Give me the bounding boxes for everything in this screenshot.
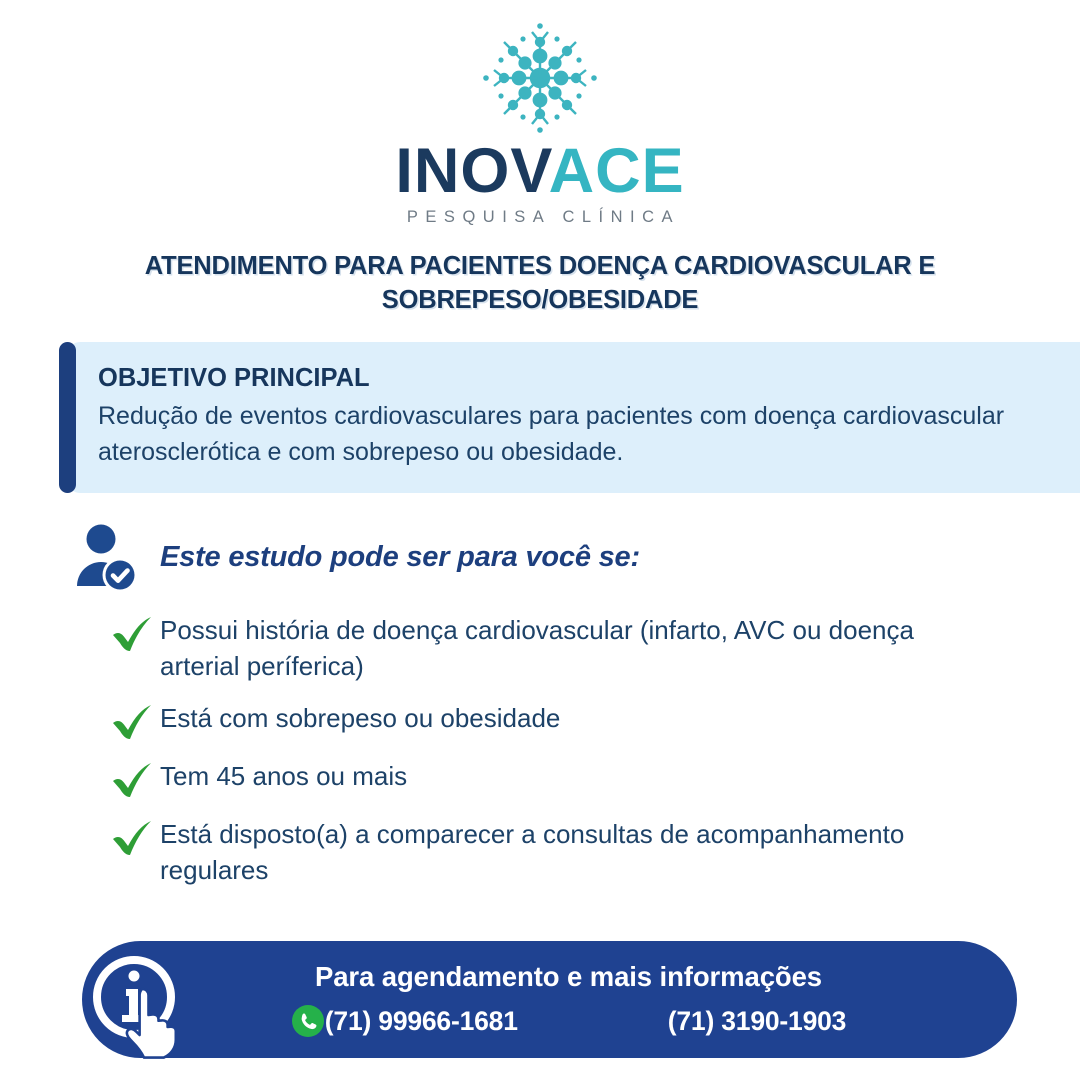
contact-banner: Para agendamento e mais informações (71)… [82,941,1017,1058]
objective-body: Redução de eventos cardiovasculares para… [98,399,1034,471]
objective-heading: OBJETIVO PRINCIPAL [98,362,1034,395]
whatsapp-phone-entry[interactable]: (71) 99966-1681 [291,1004,518,1038]
list-item-label: Está com sobrepeso ou obesidade [160,701,560,737]
green-checkmark-icon [108,703,156,743]
list-item: Possui história de doença cardiovascular… [108,613,998,685]
contact-details: Para agendamento e mais informações (71)… [178,961,959,1038]
list-item-label: Possui história de doença cardiovascular… [160,613,960,685]
logo-tagline: PESQUISA CLÍNICA [400,208,680,227]
green-checkmark-icon [108,761,156,801]
landline-phone-number[interactable]: (71) 3190-1903 [668,1006,846,1037]
page-title: ATENDIMENTO PARA PACIENTES DOENÇA CARDIO… [90,250,990,317]
logo-wordmark: INOVACE [395,140,684,203]
whatsapp-icon[interactable] [291,1004,325,1038]
list-item: Tem 45 anos ou mais [108,759,998,801]
molecular-snowflake-icon [476,22,604,134]
logo-wordmark-accent: ACE [549,136,685,206]
list-item: Está disposto(a) a comparecer a consulta… [108,817,998,889]
green-checkmark-icon [108,819,156,859]
landline-phone-entry[interactable]: (71) 3190-1903 [668,1006,846,1037]
brand-logo: INOVACE PESQUISA CLÍNICA [0,0,1080,227]
phone-row: (71) 99966-1681 (71) 3190-1903 [178,1004,959,1038]
objective-callout: OBJETIVO PRINCIPAL Redução de eventos ca… [68,342,1080,493]
whatsapp-phone-number[interactable]: (71) 99966-1681 [325,1006,518,1037]
eligibility-heading: Este estudo pode ser para você se: [160,541,640,574]
list-item-label: Tem 45 anos ou mais [160,759,407,795]
list-item: Está com sobrepeso ou obesidade [108,701,998,743]
logo-wordmark-primary: INOV [395,136,548,206]
list-item-label: Está disposto(a) a comparecer a consulta… [160,817,960,889]
eligibility-heading-row: Este estudo pode ser para você se: [74,523,1080,593]
info-hand-pointer-icon [88,949,192,1059]
person-check-icon [74,523,140,593]
green-checkmark-icon [108,615,156,655]
contact-heading: Para agendamento e mais informações [315,961,822,993]
clinical-trial-flyer: INOVACE PESQUISA CLÍNICA ATENDIMENTO PAR… [0,0,1080,1080]
eligibility-checklist: Possui história de doença cardiovascular… [108,613,998,889]
objective-accent-bar [59,342,76,493]
